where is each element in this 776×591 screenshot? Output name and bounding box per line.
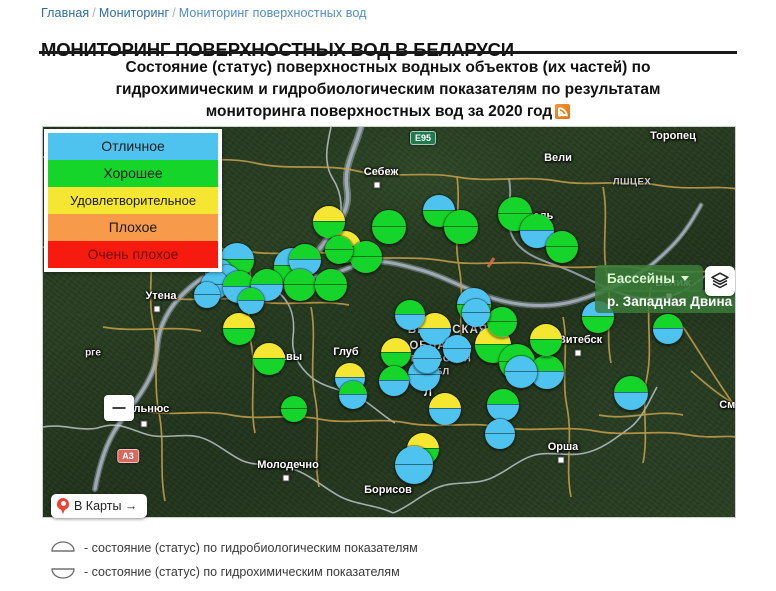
status-legend-item-1: Хорошее bbox=[48, 160, 218, 187]
water-status-marker[interactable] bbox=[545, 230, 579, 264]
layers-button[interactable] bbox=[705, 266, 735, 296]
marker-hydrobiological-half bbox=[530, 324, 562, 340]
status-legend-label: Очень плохое bbox=[88, 246, 179, 262]
marker-hydrochemical-half bbox=[487, 321, 517, 337]
water-status-marker[interactable] bbox=[193, 281, 221, 309]
marker-hydrochemical-half bbox=[315, 284, 347, 301]
semicircle-top-icon bbox=[50, 540, 76, 556]
water-status-marker[interactable] bbox=[371, 209, 407, 245]
marker-hydrobiological-half bbox=[381, 338, 411, 353]
marker-hydrobiological-half bbox=[220, 243, 254, 260]
water-status-marker[interactable] bbox=[252, 342, 286, 376]
marker-hydrochemical-half bbox=[379, 380, 409, 396]
subtitle-line-2: гидрохимическим и гидробиологическим пок… bbox=[116, 81, 661, 98]
water-status-marker[interactable] bbox=[484, 418, 516, 450]
explanation-row-biological: - состояние (статус) по гидробиологическ… bbox=[50, 536, 740, 560]
marker-hydrobiological-half bbox=[339, 381, 367, 395]
marker-hydrobiological-half bbox=[443, 335, 471, 349]
marker-hydrobiological-half bbox=[429, 393, 461, 409]
marker-hydrochemical-half bbox=[194, 294, 220, 308]
marker-hydrochemical-half bbox=[350, 256, 382, 273]
marker-hydrochemical-half bbox=[429, 408, 461, 425]
water-status-marker[interactable] bbox=[283, 268, 317, 302]
page-root: Главная/Мониторинг/Мониторинг поверхност… bbox=[0, 0, 776, 591]
explanation-text-chemical: - состояние (статус) по гидрохимическим … bbox=[84, 565, 400, 579]
marker-hydrobiological-half bbox=[485, 419, 515, 434]
marker-hydrochemical-half bbox=[253, 358, 285, 375]
status-legend-item-2: Удовлетворительное bbox=[48, 187, 218, 214]
basin-dropdown-button[interactable]: Бассейны bbox=[595, 265, 703, 292]
marker-hydrochemical-half bbox=[653, 328, 683, 344]
marker-hydrochemical-half bbox=[413, 358, 441, 373]
water-status-marker[interactable] bbox=[652, 313, 684, 345]
marker-hydrobiological-half bbox=[335, 363, 365, 378]
water-status-marker[interactable] bbox=[312, 205, 346, 239]
marker-hydrobiological-half bbox=[289, 244, 321, 260]
marker-hydrochemical-half bbox=[372, 226, 406, 244]
marker-hydrobiological-half bbox=[395, 446, 433, 465]
water-status-marker[interactable] bbox=[237, 287, 265, 315]
city-marker-dot bbox=[575, 350, 582, 357]
marker-hydrochemical-half bbox=[443, 348, 471, 363]
marker-hydrochemical-half bbox=[546, 246, 578, 263]
marker-hydrobiological-half bbox=[315, 269, 347, 285]
rss-icon[interactable] bbox=[555, 104, 570, 119]
zoom-out-button[interactable] bbox=[104, 395, 134, 421]
marker-hydrobiological-half bbox=[614, 376, 648, 393]
marker-hydrobiological-half bbox=[487, 307, 517, 322]
to-maps-button[interactable]: В Карты → bbox=[51, 494, 147, 518]
water-status-marker[interactable] bbox=[412, 344, 442, 374]
marker-hydrobiological-half bbox=[520, 214, 554, 231]
marker-hydrobiological-half bbox=[284, 269, 316, 285]
chevron-down-icon bbox=[681, 276, 689, 281]
marker-hydrochemical-half bbox=[462, 312, 490, 327]
road-shield-E95: E95 bbox=[410, 131, 436, 145]
marker-hydrochemical-half bbox=[408, 374, 440, 391]
water-status-marker[interactable] bbox=[504, 355, 538, 389]
to-maps-label: В Карты → bbox=[74, 499, 137, 513]
page-subtitle: Состояние (статус) поверхностных водных … bbox=[56, 57, 720, 123]
city-marker-dot bbox=[141, 421, 148, 428]
city-marker-dot bbox=[283, 475, 290, 482]
marker-hydrochemical-half bbox=[395, 464, 433, 484]
status-legend-item-3: Плохое bbox=[48, 214, 218, 241]
subtitle-line-1: Состояние (статус) поверхностных водных … bbox=[126, 59, 651, 76]
marker-hydrobiological-half bbox=[379, 366, 409, 381]
marker-hydrobiological-half bbox=[395, 300, 425, 315]
water-status-marker[interactable] bbox=[324, 235, 354, 265]
marker-hydrochemical-half bbox=[614, 392, 648, 410]
status-legend-label: Отличное bbox=[101, 138, 165, 154]
water-status-marker[interactable] bbox=[349, 240, 383, 274]
water-status-marker[interactable] bbox=[280, 395, 308, 423]
explanation-text-biological: - состояние (статус) по гидробиологическ… bbox=[84, 541, 418, 555]
marker-hydrobiological-half bbox=[223, 313, 255, 329]
water-status-marker[interactable] bbox=[613, 375, 649, 411]
marker-hydrobiological-half bbox=[487, 389, 519, 405]
breadcrumb-item-home[interactable]: Главная bbox=[41, 6, 89, 20]
status-legend-label: Хорошее bbox=[103, 165, 162, 181]
marker-hydrobiological-half bbox=[313, 206, 345, 222]
marker-hydrobiological-half bbox=[253, 343, 285, 359]
explanation-row-chemical: - состояние (статус) по гидрохимическим … bbox=[50, 560, 740, 584]
water-status-marker[interactable] bbox=[442, 334, 472, 364]
marker-hydrochemical-half bbox=[444, 226, 478, 244]
status-legend-label: Плохое bbox=[109, 219, 157, 235]
breadcrumb-item-monitoring[interactable]: Мониторинг bbox=[99, 6, 169, 20]
subtitle-line-3: мониторинга поверхностных вод за 2020 го… bbox=[206, 103, 553, 120]
status-legend-item-0: Отличное bbox=[48, 133, 218, 160]
water-status-marker[interactable] bbox=[394, 299, 426, 331]
marker-hydrochemical-half bbox=[325, 249, 353, 264]
water-status-marker[interactable] bbox=[222, 312, 256, 346]
marker-hydrochemical-half bbox=[505, 371, 537, 388]
marker-hydrobiological-half bbox=[462, 299, 490, 313]
marker-hydrobiological-half bbox=[325, 236, 353, 250]
water-status-marker[interactable] bbox=[378, 365, 410, 397]
status-legend-item-4: Очень плохое bbox=[48, 241, 218, 268]
map-pin-icon bbox=[57, 498, 69, 514]
water-status-marker[interactable] bbox=[486, 388, 520, 422]
breadcrumb: Главная/Мониторинг/Мониторинг поверхност… bbox=[41, 6, 367, 20]
marker-hydrobiological-half bbox=[498, 197, 532, 214]
marker-hydrobiological-half bbox=[423, 195, 455, 211]
minus-icon bbox=[113, 407, 126, 409]
water-status-marker[interactable] bbox=[314, 268, 348, 302]
status-legend-label: Удовлетворительное bbox=[70, 193, 196, 208]
road-shield-A3: A3 bbox=[117, 449, 139, 463]
breadcrumb-separator: / bbox=[92, 6, 96, 20]
marker-hydrochemical-half bbox=[281, 408, 307, 422]
water-status-marker[interactable] bbox=[428, 392, 462, 426]
city-marker-dot bbox=[374, 182, 381, 189]
marker-hydrobiological-half bbox=[413, 345, 441, 359]
city-marker-dot bbox=[154, 306, 161, 313]
marker-hydrochemical-half bbox=[395, 314, 425, 330]
status-legend: ОтличноеХорошееУдовлетворительноеПлохоеО… bbox=[44, 129, 222, 272]
city-marker-dot bbox=[558, 457, 565, 464]
water-status-marker[interactable] bbox=[461, 298, 491, 328]
title-divider bbox=[39, 51, 737, 54]
layers-icon bbox=[710, 271, 730, 291]
marker-hydrochemical-half bbox=[485, 433, 515, 449]
breadcrumb-item-surface-water[interactable]: Мониторинг поверхностных вод bbox=[179, 6, 367, 20]
marker-hydrochemical-half bbox=[339, 394, 367, 409]
breadcrumb-separator: / bbox=[172, 6, 176, 20]
marker-hydrobiological-half bbox=[251, 269, 283, 285]
semicircle-bottom-icon bbox=[50, 564, 76, 580]
marker-hydrobiological-half bbox=[653, 314, 683, 329]
water-status-marker[interactable] bbox=[443, 209, 479, 245]
marker-hydrochemical-half bbox=[582, 316, 614, 333]
marker-hydrochemical-half bbox=[530, 339, 562, 356]
basin-dropdown-label: Бассейны bbox=[607, 271, 675, 286]
marker-hydrochemical-half bbox=[223, 328, 255, 345]
water-status-marker[interactable] bbox=[529, 323, 563, 357]
marker-hydrobiological-half bbox=[505, 356, 537, 372]
water-status-marker[interactable] bbox=[394, 445, 434, 485]
water-status-marker[interactable] bbox=[338, 380, 368, 410]
marker-hydrobiological-half bbox=[372, 210, 406, 227]
marker-explanation: - состояние (статус) по гидробиологическ… bbox=[50, 536, 740, 584]
marker-hydrobiological-half bbox=[546, 231, 578, 247]
marker-hydrochemical-half bbox=[238, 300, 264, 314]
marker-hydrochemical-half bbox=[284, 284, 316, 301]
marker-hydrobiological-half bbox=[444, 210, 478, 227]
